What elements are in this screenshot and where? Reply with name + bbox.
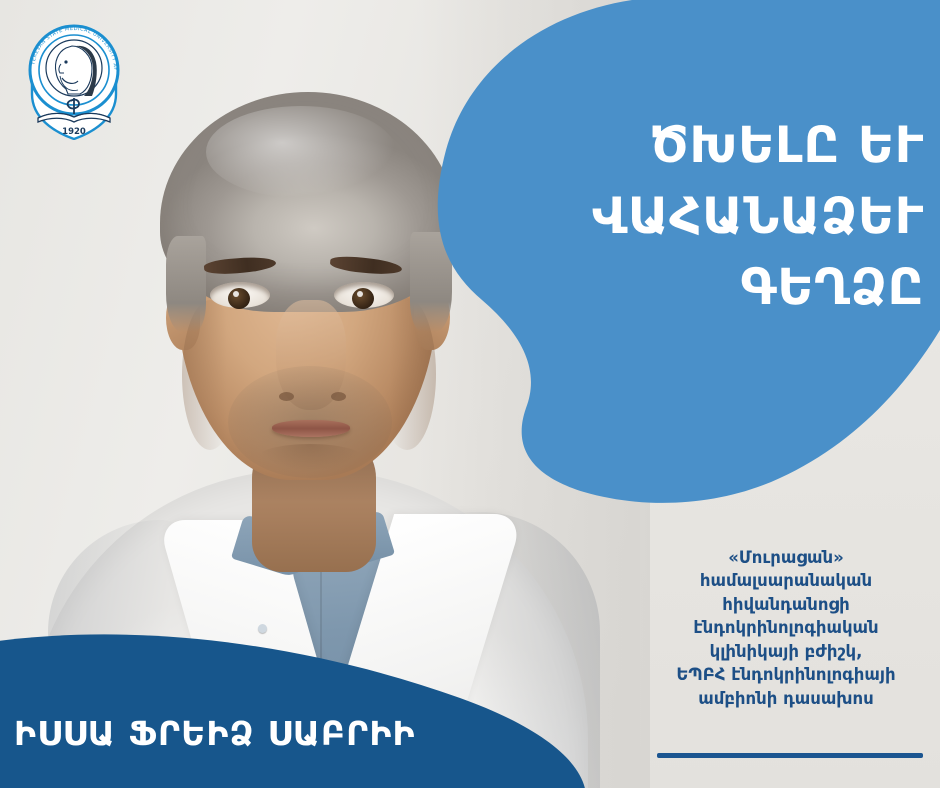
credentials-line-1: «Մուրացան» [636,546,936,569]
headline-line-3: ԳԵՂՁԸ [500,252,932,323]
mouth [272,420,350,437]
headline-line-2: ՎԱՀԱՆԱՁԵՒ [500,181,932,252]
eye-right [334,282,394,308]
speaker-name: ԻՍՍԱ ՖՐԵԻՁ ՍԱԲՐԻԻ [14,714,534,753]
hair-highlight [206,106,396,198]
logo-year: 1920 [62,127,86,137]
headline-line-1: ԾԽԵԼԸ ԵՒ [500,110,932,181]
headline: ԾԽԵԼԸ ԵՒ ՎԱՀԱՆԱՁԵՒ ԳԵՂՁԸ [500,110,932,323]
chin-shadow [258,444,362,470]
credentials-block: «Մուրացան» համալսարանական հիվանդանոցի էն… [636,546,936,710]
eye-left [210,282,270,308]
credentials-line-4: էնդոկրինոլոգիական [636,616,936,639]
credentials-line-6: ԵՊԲՀ էնդոկրինոլոգիայի [636,663,936,686]
sideburn-left [166,236,206,332]
iris-left [228,288,250,309]
iris-right [352,288,374,309]
poster-canvas: ԾԽԵԼԸ ԵՒ ՎԱՀԱՆԱՁԵՒ ԳԵՂՁԸ «Մուրացան» համա… [0,0,940,788]
credentials-line-5: կլինիկայի բժիշկ, [636,640,936,663]
speaker-name-banner-shape [0,614,590,788]
credentials-line-2: համալսարանական [636,569,936,592]
credentials-line-7: ամբիոնի դասախոս [636,687,936,710]
divider-rule [657,753,923,758]
credentials-line-3: հիվանդանոցի [636,593,936,616]
university-logo: YEREVAN STATE MEDICAL UNIVERSITY AFTER M… [18,18,130,140]
